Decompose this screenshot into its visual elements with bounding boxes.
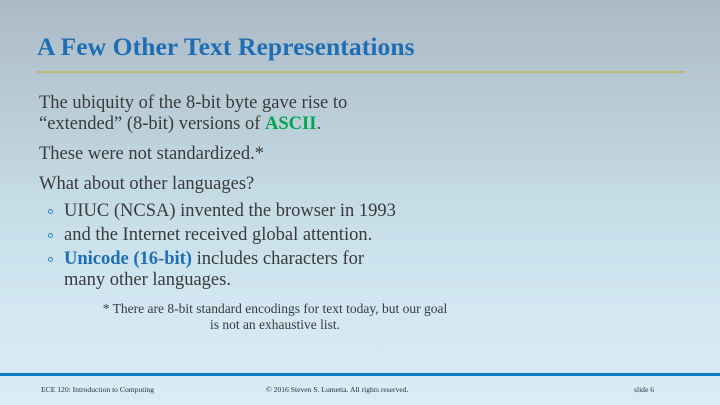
title-divider-rule bbox=[37, 71, 685, 73]
footer-divider-rule bbox=[0, 373, 720, 376]
list-item: and the Internet received global attenti… bbox=[47, 225, 679, 246]
footer-course-title: ECE 120: Introduction to Computing bbox=[41, 385, 154, 394]
list-item: Unicode (16-bit) includes characters for… bbox=[47, 249, 679, 291]
paragraph-ubiquity-tail: . bbox=[316, 114, 321, 134]
footer-copyright: © 2016 Steven S. Lumetta. All rights res… bbox=[266, 385, 408, 394]
bullet-list: UIUC (NCSA) invented the browser in 1993… bbox=[39, 201, 679, 291]
paragraph-other-languages: What about other languages? bbox=[39, 174, 679, 195]
page-title: A Few Other Text Representations bbox=[37, 32, 415, 62]
slide-canvas: A Few Other Text Representations The ubi… bbox=[0, 0, 720, 405]
paragraph-ubiquity: The ubiquity of the 8-bit byte gave rise… bbox=[39, 93, 679, 135]
footer-slide-number: slide 6 bbox=[634, 385, 654, 394]
list-item: UIUC (NCSA) invented the browser in 1993 bbox=[47, 201, 679, 222]
list-item-label: and the Internet received global attenti… bbox=[64, 225, 679, 246]
footnote-text: * There are 8-bit standard encodings for… bbox=[40, 301, 510, 333]
list-item-label: UIUC (NCSA) invented the browser in 1993 bbox=[64, 201, 679, 222]
hollow-circle-bullet-icon bbox=[48, 233, 53, 238]
slide-body: The ubiquity of the 8-bit byte gave rise… bbox=[39, 93, 679, 294]
paragraph-not-standardized: These were not standardized.* bbox=[39, 144, 679, 165]
hollow-circle-bullet-icon bbox=[48, 209, 53, 214]
list-item-label: Unicode (16-bit) includes characters for… bbox=[64, 249, 679, 291]
ascii-accent-text: ASCII bbox=[265, 114, 316, 134]
unicode-accent-text: Unicode (16-bit) bbox=[64, 249, 192, 269]
hollow-circle-bullet-icon bbox=[48, 257, 53, 262]
